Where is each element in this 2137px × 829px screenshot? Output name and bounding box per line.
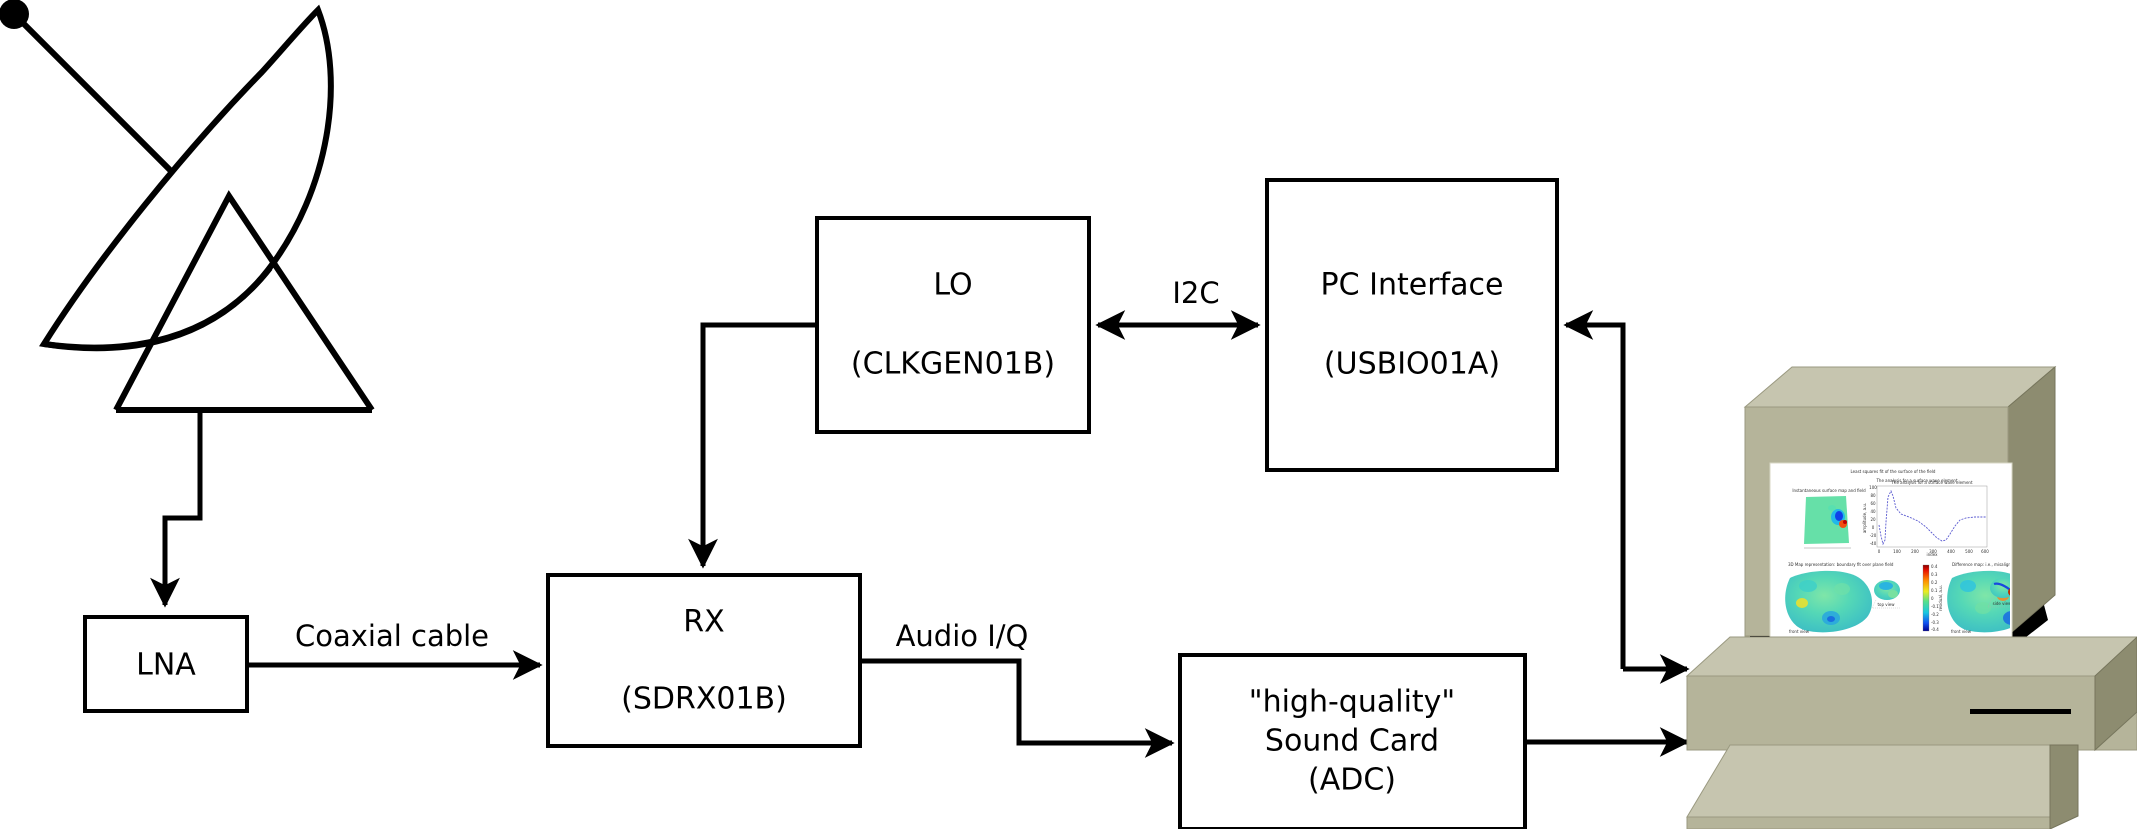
monitor-top-face <box>1745 367 2055 407</box>
rx-label-line1: RX <box>683 605 724 640</box>
figure-title: Least squares fit of the surface of the … <box>1851 469 1936 474</box>
panel-c-corner-label: front view <box>1951 629 1972 634</box>
cb-tick-6: -0.2 <box>1931 612 1939 617</box>
monitor-side-face <box>2008 367 2055 636</box>
sound-card-label-line2: Sound Card <box>1265 724 1439 759</box>
x-tick-6: 600 <box>1981 549 1989 554</box>
cb-tick-7: -0.3 <box>1931 620 1939 625</box>
y-tick-3: 40 <box>1870 509 1876 514</box>
tower-top-face <box>1687 637 2137 676</box>
block-pc-interface: PC Interface (USBIO01A) <box>1267 180 1557 470</box>
panel-a-title: Instantaneous surface map and field <box>1792 488 1866 493</box>
block-lna: LNA <box>85 617 247 711</box>
computer-illustration: Least squares fit of the surface of the … <box>1687 367 2137 829</box>
wire-computer-to-pc-interface <box>1566 325 1623 669</box>
colorbar-label: residual, a.u. <box>1938 585 1943 611</box>
panel-a-map <box>1804 496 1851 548</box>
x-tick-2: 200 <box>1911 549 1919 554</box>
panel-b-corner-label: front view <box>1789 629 1810 634</box>
satellite-dish-antenna <box>0 0 372 410</box>
pc-interface-box <box>1267 180 1557 470</box>
rx-box <box>548 575 860 746</box>
lna-label: LNA <box>136 648 196 683</box>
diagram-svg: LNA Coaxial cable RX (SDRX01B) LO (CLKGE… <box>0 0 2137 829</box>
panel-c-inset-label: side view <box>1993 601 2012 606</box>
sound-card-label-line3: (ADC) <box>1308 763 1396 798</box>
cb-tick-3: 0.1 <box>1931 588 1938 593</box>
y-tick-4: 20 <box>1870 517 1876 522</box>
edge-audio-iq: Audio I/Q <box>860 619 1172 743</box>
lo-label-line1: LO <box>933 268 972 303</box>
x-tick-0: 0 <box>1878 549 1881 554</box>
pc-interface-label-line2: (USBIO01A) <box>1324 347 1500 382</box>
keyboard-front-edge <box>1687 817 2050 829</box>
audio-iq-label: Audio I/Q <box>896 619 1029 653</box>
lineplot-subtitle: The analysis for a surface wave element <box>1890 480 1972 485</box>
lo-box <box>817 218 1089 432</box>
wire-dish-to-lna <box>165 412 200 605</box>
edge-i2c: I2C <box>1098 276 1258 325</box>
keyboard-top-face <box>1687 745 2050 817</box>
wire-rx-to-soundcard <box>860 661 1172 743</box>
y-tick-0: 100 <box>1869 485 1877 490</box>
rx-label-line2: (SDRX01B) <box>621 682 787 717</box>
edge-coaxial-cable: Coaxial cable <box>247 619 540 665</box>
sound-card-label-line1: "high-quality" <box>1249 685 1455 720</box>
block-rx: RX (SDRX01B) <box>548 575 860 746</box>
dish-reflector <box>44 10 331 348</box>
lineplot-ylabel: amplitude, a.u. <box>1862 503 1867 533</box>
lo-label-line2: (CLKGEN01B) <box>851 347 1055 382</box>
y-tick-2: 60 <box>1870 501 1876 506</box>
block-sound-card: "high-quality" Sound Card (ADC) <box>1180 655 1525 829</box>
cb-tick-1: 0.3 <box>1931 572 1938 577</box>
coaxial-cable-label: Coaxial cable <box>295 619 489 653</box>
y-tick-1: 80 <box>1870 493 1876 498</box>
y-tick-6: -20 <box>1870 533 1877 538</box>
block-lo: LO (CLKGEN01B) <box>817 218 1089 432</box>
dish-feed-boom <box>16 16 178 178</box>
x-tick-3: 300 <box>1929 549 1937 554</box>
wire-lo-to-rx <box>703 325 817 566</box>
i2c-label: I2C <box>1172 276 1219 310</box>
cb-tick-8: -0.4 <box>1931 627 1939 632</box>
cb-tick-0: 0.4 <box>1931 564 1938 569</box>
block-diagram-canvas: LNA Coaxial cable RX (SDRX01B) LO (CLKGE… <box>0 0 2137 829</box>
x-tick-4: 400 <box>1947 549 1955 554</box>
keyboard-side-face <box>2050 745 2078 829</box>
x-tick-5: 500 <box>1965 549 1973 554</box>
drive-slot <box>1970 709 2071 714</box>
y-tick-5: 0 <box>1872 525 1875 530</box>
panel-b-inset-label: top view <box>1877 602 1895 607</box>
y-tick-7: -40 <box>1870 541 1877 546</box>
x-tick-1: 100 <box>1893 549 1901 554</box>
panel-a-lineplot: The analysis for a surface wave element … <box>1862 480 1989 557</box>
pc-interface-label-line1: PC Interface <box>1321 268 1504 303</box>
panel-b-title: 3D Map representation: boundary fit over… <box>1788 562 1894 567</box>
cb-tick-2: 0.2 <box>1931 580 1938 585</box>
